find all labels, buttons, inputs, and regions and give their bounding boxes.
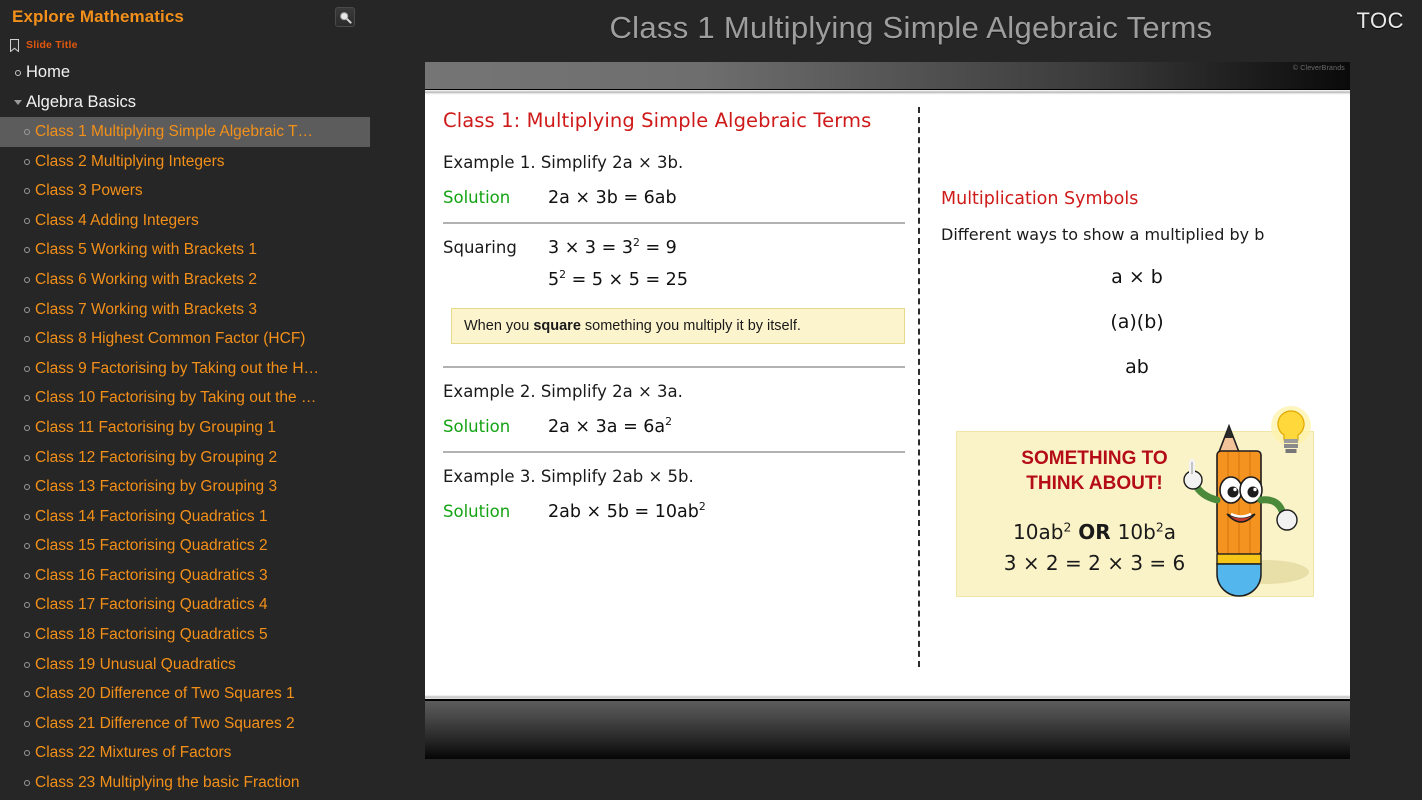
squaring-line-1: 3 × 3 = 32 = 9 — [548, 238, 677, 258]
toc-item-label: Class 18 Factorising Quadratics 5 — [35, 626, 268, 644]
search-icon[interactable] — [335, 7, 355, 27]
toc-item-18[interactable]: Class 17 Factorising Quadratics 4 — [0, 591, 400, 621]
toc-item-11[interactable]: Class 10 Factorising by Taking out the … — [0, 384, 400, 414]
slide-stage: Class 1 Multiplying Simple Algebraic Ter… — [400, 0, 1422, 800]
bullet-icon — [18, 750, 35, 756]
multiplication-form-3: ab — [941, 356, 1333, 378]
toc-item-2[interactable]: Class 1 Multiplying Simple Algebraic T… — [0, 117, 370, 147]
think-box-line-2: 3 × 2 = 2 × 3 = 6 — [987, 551, 1202, 575]
toc-item-24[interactable]: Class 23 Multiplying the basic Fraction — [0, 768, 400, 798]
slide-title-bookmark[interactable]: Slide Title — [0, 34, 400, 56]
toc-item-label: Class 1 Multiplying Simple Algebraic T… — [35, 123, 313, 141]
toc-item-label: Class 11 Factorising by Grouping 1 — [35, 419, 276, 437]
toc-item-1[interactable]: Algebra Basics — [0, 88, 400, 118]
slide-heading: Class 1: Multiplying Simple Algebraic Te… — [443, 109, 905, 132]
example2-solution-label: Solution — [443, 417, 548, 436]
multiplication-form-2: (a)(b) — [941, 311, 1333, 333]
toc-item-13[interactable]: Class 12 Factorising by Grouping 2 — [0, 443, 400, 473]
toc-item-label: Class 13 Factorising by Grouping 3 — [35, 478, 277, 496]
toc-item-7[interactable]: Class 6 Working with Brackets 2 — [0, 265, 400, 295]
toc-item-0[interactable]: Home — [0, 58, 400, 88]
bullet-icon — [10, 70, 26, 76]
example3-prompt: Example 3. Simplify 2ab × 5b. — [443, 467, 905, 486]
slide-frame: © CleverBrands Class 1: Multiplying Simp… — [425, 62, 1350, 757]
bullet-icon — [18, 336, 35, 342]
sidebar: Explore Mathematics Slide Title HomeAlge… — [0, 0, 400, 800]
toc-item-label: Class 20 Difference of Two Squares 1 — [35, 685, 295, 703]
multiplication-form-1: a × b — [941, 266, 1333, 288]
toc-item-15[interactable]: Class 14 Factorising Quadratics 1 — [0, 502, 400, 532]
squaring-row: Squaring 3 × 3 = 32 = 9 — [443, 238, 905, 258]
bullet-icon — [18, 573, 35, 579]
toc-item-12[interactable]: Class 11 Factorising by Grouping 1 — [0, 413, 400, 443]
bullet-icon — [18, 455, 35, 461]
example2-prompt: Example 2. Simplify 2a × 3a. — [443, 382, 905, 401]
toc-item-label: Class 9 Factorising by Taking out the H… — [35, 360, 319, 378]
toc-item-label: Class 23 Multiplying the basic Fraction — [35, 774, 299, 792]
app-title: Explore Mathematics — [12, 7, 184, 27]
square-definition-callout: When you square something you multiply i… — [451, 308, 905, 344]
toc-button[interactable]: TOC — [1356, 8, 1404, 34]
sidebar-header: Explore Mathematics — [0, 0, 400, 34]
toc-item-label: Algebra Basics — [26, 93, 136, 112]
toc-item-20[interactable]: Class 19 Unusual Quadratics — [0, 650, 400, 680]
multiplication-symbols-heading: Multiplication Symbols — [941, 189, 1333, 209]
note-emphasis: square — [533, 318, 581, 334]
toc-item-4[interactable]: Class 3 Powers — [0, 176, 400, 206]
example1-solution-label: Solution — [443, 188, 548, 207]
bullet-icon — [18, 277, 35, 283]
toc-item-label: Class 22 Mixtures of Factors — [35, 744, 231, 762]
bullet-icon — [18, 247, 35, 253]
something-to-think-about-box: SOMETHING TOTHINK ABOUT! 10ab2 OR 10b2a … — [956, 431, 1314, 597]
example2-exponent: 2 — [665, 415, 672, 428]
bullet-icon — [18, 159, 35, 165]
squaring-exponent-1: 2 — [633, 236, 640, 249]
toc-item-19[interactable]: Class 18 Factorising Quadratics 5 — [0, 620, 400, 650]
bullet-icon — [18, 662, 35, 668]
slide-right-column: Multiplication Symbols Different ways to… — [941, 189, 1333, 401]
toc-item-label: Class 21 Difference of Two Squares 2 — [35, 715, 295, 733]
slide-left-column: Class 1: Multiplying Simple Algebraic Te… — [443, 109, 905, 530]
rule-1 — [443, 222, 905, 224]
toc-item-label: Class 4 Adding Integers — [35, 212, 199, 230]
bullet-icon — [18, 395, 35, 401]
toc-item-label: Class 8 Highest Common Factor (HCF) — [35, 330, 305, 348]
chevron-down-icon — [10, 100, 26, 105]
bullet-icon — [18, 484, 35, 490]
squaring-exponent-2: 2 — [559, 268, 566, 281]
squaring-line-2: 52 = 5 × 5 = 25 — [443, 270, 905, 290]
toc-item-5[interactable]: Class 4 Adding Integers — [0, 206, 400, 236]
toc-item-label: Class 5 Working with Brackets 1 — [35, 241, 257, 259]
bullet-icon — [18, 632, 35, 638]
toc-item-label: Home — [26, 63, 70, 82]
example3-exponent: 2 — [699, 500, 706, 513]
example2-solution-expression: 2a × 3a = 6a2 — [548, 417, 672, 437]
think-box-line-1: 10ab2 OR 10b2a — [987, 520, 1202, 544]
rule-3 — [443, 451, 905, 453]
toc-item-16[interactable]: Class 15 Factorising Quadratics 2 — [0, 532, 400, 562]
example3-solution-expression: 2ab × 5b = 10ab2 — [548, 502, 706, 522]
table-of-contents-list[interactable]: HomeAlgebra BasicsClass 1 Multiplying Si… — [0, 56, 400, 798]
example1-solution-expression: 2a × 3b = 6ab — [548, 188, 677, 208]
bullet-icon — [18, 721, 35, 727]
slide-content: Class 1: Multiplying Simple Algebraic Te… — [425, 95, 1350, 695]
bookmark-icon — [10, 39, 19, 52]
example2-solution-row: Solution 2a × 3a = 6a2 — [443, 417, 905, 437]
lightbulb-icon — [1271, 406, 1311, 453]
toc-item-label: Class 19 Unusual Quadratics — [35, 656, 236, 674]
rule-2 — [443, 366, 905, 368]
page-title: Class 1 Multiplying Simple Algebraic Ter… — [400, 10, 1422, 46]
multiplication-symbols-subtitle: Different ways to show a multiplied by b — [941, 225, 1333, 244]
bullet-icon — [18, 543, 35, 549]
toc-item-22[interactable]: Class 21 Difference of Two Squares 2 — [0, 709, 400, 739]
toc-item-14[interactable]: Class 13 Factorising by Grouping 3 — [0, 472, 400, 502]
toc-item-label: Class 2 Multiplying Integers — [35, 153, 225, 171]
copyright-notice: © CleverBrands — [1293, 65, 1345, 72]
toc-item-label: Class 16 Factorising Quadratics 3 — [35, 567, 268, 585]
bullet-icon — [18, 188, 35, 194]
toc-item-21[interactable]: Class 20 Difference of Two Squares 1 — [0, 679, 400, 709]
bullet-icon — [18, 218, 35, 224]
example1-solution-row: Solution 2a × 3b = 6ab — [443, 188, 905, 208]
toc-item-label: Class 14 Factorising Quadratics 1 — [35, 508, 268, 526]
bullet-icon — [18, 307, 35, 313]
slide-bottom-bar — [425, 699, 1350, 759]
think-box-title: SOMETHING TOTHINK ABOUT! — [987, 446, 1202, 497]
toc-item-8[interactable]: Class 7 Working with Brackets 3 — [0, 295, 400, 325]
toc-item-23[interactable]: Class 22 Mixtures of Factors — [0, 739, 400, 769]
toc-item-label: Class 17 Factorising Quadratics 4 — [35, 596, 268, 614]
toc-item-3[interactable]: Class 2 Multiplying Integers — [0, 147, 400, 177]
bookmark-label: Slide Title — [26, 39, 78, 51]
toc-item-label: Class 15 Factorising Quadratics 2 — [35, 537, 268, 555]
bullet-icon — [18, 425, 35, 431]
squaring-label: Squaring — [443, 238, 548, 257]
bullet-icon — [18, 780, 35, 786]
example1-prompt: Example 1. Simplify 2a × 3b. — [443, 153, 905, 172]
toc-item-label: Class 7 Working with Brackets 3 — [35, 301, 257, 319]
example3-solution-row: Solution 2ab × 5b = 10ab2 — [443, 502, 905, 522]
bullet-icon — [18, 366, 35, 372]
toc-item-9[interactable]: Class 8 Highest Common Factor (HCF) — [0, 324, 400, 354]
toc-item-label: Class 10 Factorising by Taking out the … — [35, 389, 316, 407]
presentation-viewer: Explore Mathematics Slide Title HomeAlge… — [0, 0, 1422, 800]
slide-top-bar: © CleverBrands — [425, 62, 1350, 90]
toc-item-label: Class 12 Factorising by Grouping 2 — [35, 449, 277, 467]
bullet-icon — [18, 514, 35, 520]
toc-item-label: Class 3 Powers — [35, 182, 143, 200]
column-divider — [918, 107, 920, 667]
bullet-icon — [18, 602, 35, 608]
pencil-mascot-icon — [1179, 404, 1319, 600]
toc-item-17[interactable]: Class 16 Factorising Quadratics 3 — [0, 561, 400, 591]
toc-item-10[interactable]: Class 9 Factorising by Taking out the H… — [0, 354, 400, 384]
bullet-icon — [18, 129, 35, 135]
toc-item-6[interactable]: Class 5 Working with Brackets 1 — [0, 236, 400, 266]
toc-item-label: Class 6 Working with Brackets 2 — [35, 271, 257, 289]
bullet-icon — [18, 691, 35, 697]
example3-solution-label: Solution — [443, 502, 548, 521]
